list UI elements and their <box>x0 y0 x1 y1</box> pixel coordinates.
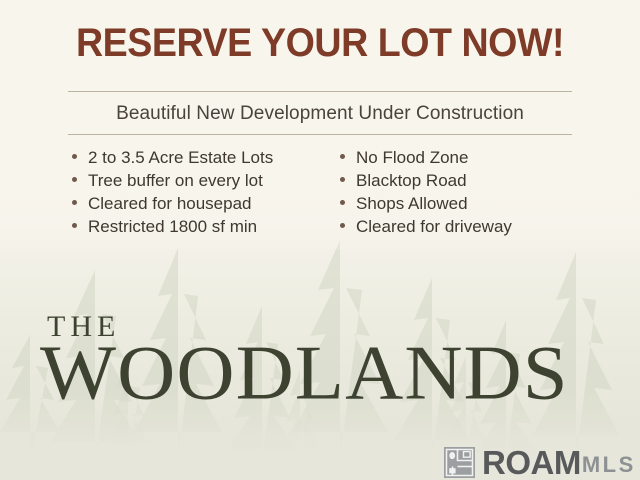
development-logo-name: WOODLANDS <box>40 334 569 412</box>
list-item: Cleared for driveway <box>340 215 592 238</box>
feature-label: Blacktop Road <box>356 169 467 192</box>
list-item: Cleared for housepad <box>72 192 340 215</box>
feature-label: 2 to 3.5 Acre Estate Lots <box>88 146 273 169</box>
feature-label: No Flood Zone <box>356 146 468 169</box>
brand-name: ROAM <box>482 446 581 479</box>
divider-bottom <box>68 134 572 135</box>
page-title: RESERVE YOUR LOT NOW! <box>19 18 621 68</box>
feature-label: Restricted 1800 sf min <box>88 215 257 238</box>
bullet-dot-icon <box>72 200 77 205</box>
bullet-dot-icon <box>340 177 345 182</box>
floor-plan-icon <box>444 447 475 478</box>
bullet-dot-icon <box>340 200 345 205</box>
bullet-dot-icon <box>72 223 77 228</box>
feature-label: Tree buffer on every lot <box>88 169 263 192</box>
bullet-dot-icon <box>72 154 77 159</box>
subtitle: Beautiful New Development Under Construc… <box>0 101 640 127</box>
features-left-column: 2 to 3.5 Acre Estate Lots Tree buffer on… <box>72 146 340 238</box>
feature-label: Shops Allowed <box>356 192 468 215</box>
list-item: 2 to 3.5 Acre Estate Lots <box>72 146 340 169</box>
features-right-column: No Flood Zone Blacktop Road Shops Allowe… <box>340 146 592 238</box>
bullet-dot-icon <box>72 177 77 182</box>
list-item: No Flood Zone <box>340 146 592 169</box>
divider-top <box>68 91 572 92</box>
bullet-dot-icon <box>340 154 345 159</box>
list-item: Restricted 1800 sf min <box>72 215 340 238</box>
list-item: Shops Allowed <box>340 192 592 215</box>
real-estate-ad-image: RESERVE YOUR LOT NOW! Beautiful New Deve… <box>0 0 640 480</box>
feature-label: Cleared for housepad <box>88 192 252 215</box>
brand-logo: ROAM MLS <box>444 444 636 480</box>
brand-suffix: MLS <box>582 454 636 476</box>
list-item: Blacktop Road <box>340 169 592 192</box>
feature-label: Cleared for driveway <box>356 215 512 238</box>
list-item: Tree buffer on every lot <box>72 169 340 192</box>
bullet-dot-icon <box>340 223 345 228</box>
features-columns: 2 to 3.5 Acre Estate Lots Tree buffer on… <box>72 146 592 238</box>
